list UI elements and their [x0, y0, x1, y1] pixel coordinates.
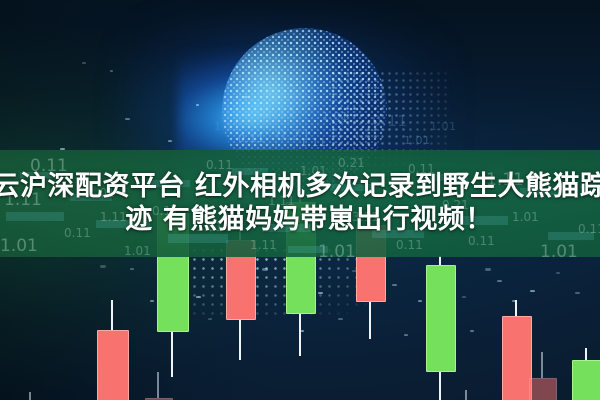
headline-line-1: 云沪深配资平台 红外相机多次记录到野生大熊猫踪: [0, 172, 600, 203]
candle-body: [529, 378, 557, 400]
candlestick-up-8: [572, 348, 600, 400]
headline-line-2: 迹 有熊猫妈妈带崽出行视频！: [107, 205, 492, 236]
candle-body: [97, 330, 129, 400]
candle-body: [502, 316, 532, 400]
headline-band: 0.111.111.011.011.110.111.010.111.111.01…: [0, 150, 600, 257]
candlestick-up-6: [426, 256, 454, 400]
candle-wick: [29, 392, 31, 400]
candlestick-down-12: [529, 352, 555, 400]
candlestick-up-9: [17, 392, 43, 400]
headline-text: 云沪深配资平台 红外相机多次记录到野生大熊猫踪 迹 有熊猫妈妈带崽出行视频！: [0, 150, 600, 257]
candle-wick: [157, 372, 159, 400]
candlestick-down-10: [145, 372, 171, 400]
candlestick-down-7: [502, 300, 530, 400]
candlestick-up-11: [453, 390, 479, 400]
candle-body: [426, 265, 456, 372]
banner-image: 0.110.211.011.113.110.111.010.111.111.01…: [0, 0, 600, 400]
candlestick-down-1: [97, 300, 127, 400]
candle-body: [572, 360, 600, 400]
candle-wick: [465, 390, 467, 400]
